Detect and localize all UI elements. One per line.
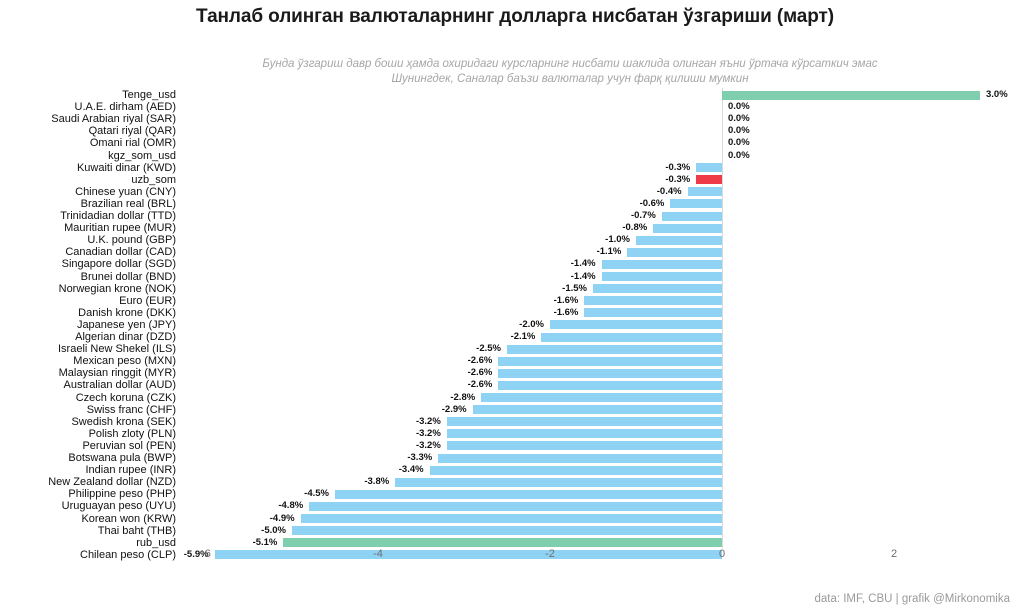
bar-value-label: -3.8% (364, 476, 389, 488)
bar-value-label: -3.2% (416, 416, 441, 428)
category-label: Swedish krona (SEK) (0, 416, 176, 428)
chart-bar (696, 175, 722, 184)
bar-value-label: 3.0% (986, 89, 1008, 101)
bar-value-label: -4.5% (304, 488, 329, 500)
bar-value-label: -2.1% (511, 331, 536, 343)
category-label: Euro (EUR) (0, 295, 176, 307)
bar-value-label: -4.9% (270, 513, 295, 525)
chart-bar-row: uzb_som-0.3% (0, 174, 1024, 186)
bar-value-label: -1.1% (597, 246, 622, 258)
chart-bar-row: Thai baht (THB)-5.0% (0, 525, 1024, 537)
category-label: U.K. pound (GBP) (0, 234, 176, 246)
category-label: Mexican peso (MXN) (0, 355, 176, 367)
chart-bar (584, 296, 722, 305)
bar-value-label: -2.8% (450, 392, 475, 404)
category-label: Brunei dollar (BND) (0, 271, 176, 283)
chart-bar (498, 381, 722, 390)
bar-value-label: -2.6% (468, 367, 493, 379)
chart-bar-row: Mauritian rupee (MUR)-0.8% (0, 222, 1024, 234)
category-label: Chinese yuan (CNY) (0, 186, 176, 198)
chart-bar-row: Canadian dollar (CAD)-1.1% (0, 246, 1024, 258)
chart-subtitle-line-2: Шунингдек, Саналар баъзи валюталар учун … (120, 72, 1020, 87)
chart-bar (550, 320, 722, 329)
chart-bar-row: Singapore dollar (SGD)-1.4% (0, 258, 1024, 270)
chart-bar (636, 236, 722, 245)
chart-title: Танлаб олинган валюталарнинг долларга ни… (150, 4, 880, 29)
category-label: kgz_som_usd (0, 150, 176, 162)
bar-value-label: -2.0% (519, 319, 544, 331)
bar-value-label: -4.8% (278, 500, 303, 512)
chart-bar (688, 187, 722, 196)
bar-value-label: -1.0% (605, 234, 630, 246)
chart-bar-row: Qatari riyal (QAR)0.0% (0, 125, 1024, 137)
chart-subtitle-line-1: Бунда ўзгариш давр боши ҳамда охиридаги … (262, 58, 877, 70)
category-label: Saudi Arabian riyal (SAR) (0, 113, 176, 125)
chart-bar-row: Swedish krona (SEK)-3.2% (0, 416, 1024, 428)
chart-container: Танлаб олинган валюталарнинг долларга ни… (0, 0, 1024, 614)
chart-bar (395, 478, 722, 487)
category-label: U.A.E. dirham (AED) (0, 101, 176, 113)
bar-value-label: -0.3% (665, 174, 690, 186)
chart-bar-row: Czech koruna (CZK)-2.8% (0, 392, 1024, 404)
bar-value-label: -3.2% (416, 440, 441, 452)
chart-bar (301, 514, 722, 523)
chart-bar (498, 369, 722, 378)
chart-bar-row: Swiss franc (CHF)-2.9% (0, 404, 1024, 416)
chart-bar-row: Philippine peso (PHP)-4.5% (0, 488, 1024, 500)
x-axis-tick-label: 2 (891, 548, 897, 560)
category-label: Trinidadian dollar (TTD) (0, 210, 176, 222)
chart-subtitle: Бунда ўзгариш давр боши ҳамда охиридаги … (120, 57, 1020, 87)
bar-value-label: 0.0% (728, 137, 750, 149)
bar-value-label: -5.0% (261, 525, 286, 537)
chart-bar (309, 502, 722, 511)
chart-bar-row: Botswana pula (BWP)-3.3% (0, 452, 1024, 464)
chart-bar-row: Kuwaiti dinar (KWD)-0.3% (0, 162, 1024, 174)
bar-value-label: -1.4% (571, 258, 596, 270)
chart-bar-row: Saudi Arabian riyal (SAR)0.0% (0, 113, 1024, 125)
chart-bar (447, 417, 722, 426)
plot-area: Tenge_usd3.0%U.A.E. dirham (AED)0.0%Saud… (0, 88, 1024, 548)
category-label: Norwegian krone (NOK) (0, 283, 176, 295)
category-label: Korean won (KRW) (0, 513, 176, 525)
bar-value-label: 0.0% (728, 125, 750, 137)
x-axis: -6-4-202 (0, 548, 1024, 570)
bar-value-label: -2.5% (476, 343, 501, 355)
chart-bar-row: Danish krone (DKK)-1.6% (0, 307, 1024, 319)
category-label: Malaysian ringgit (MYR) (0, 367, 176, 379)
chart-bar-row: U.K. pound (GBP)-1.0% (0, 234, 1024, 246)
chart-bar (498, 357, 722, 366)
category-label: Peruvian sol (PEN) (0, 440, 176, 452)
category-label: New Zealand dollar (NZD) (0, 476, 176, 488)
bar-value-label: -3.4% (399, 464, 424, 476)
chart-bar (438, 454, 722, 463)
bar-value-label: -0.3% (665, 162, 690, 174)
chart-bar (593, 284, 722, 293)
chart-bar-row: Indian rupee (INR)-3.4% (0, 464, 1024, 476)
chart-bar-row: Israeli New Shekel (ILS)-2.5% (0, 343, 1024, 355)
category-label: Canadian dollar (CAD) (0, 246, 176, 258)
chart-bar-row: New Zealand dollar (NZD)-3.8% (0, 476, 1024, 488)
chart-bar-row: Australian dollar (AUD)-2.6% (0, 379, 1024, 391)
bar-value-label: -0.4% (657, 186, 682, 198)
bar-value-label: -1.4% (571, 271, 596, 283)
chart-bar (430, 466, 722, 475)
chart-bar (335, 490, 722, 499)
category-label: Mauritian rupee (MUR) (0, 222, 176, 234)
chart-bar (653, 224, 722, 233)
category-label: Czech koruna (CZK) (0, 392, 176, 404)
bar-value-label: -2.6% (468, 355, 493, 367)
chart-bar-row: Uruguayan peso (UYU)-4.8% (0, 500, 1024, 512)
category-label: Indian rupee (INR) (0, 464, 176, 476)
bar-value-label: -0.7% (631, 210, 656, 222)
bar-value-label: 0.0% (728, 150, 750, 162)
chart-bar (670, 199, 722, 208)
bar-value-label: -1.6% (554, 295, 579, 307)
chart-bar-row: Norwegian krone (NOK)-1.5% (0, 283, 1024, 295)
bar-value-label: -0.8% (622, 222, 647, 234)
chart-bar-row: kgz_som_usd0.0% (0, 150, 1024, 162)
category-label: Polish zloty (PLN) (0, 428, 176, 440)
chart-bar (481, 393, 722, 402)
category-label: Thai baht (THB) (0, 525, 176, 537)
chart-bar-row: Euro (EUR)-1.6% (0, 295, 1024, 307)
chart-bar-row: Peruvian sol (PEN)-3.2% (0, 440, 1024, 452)
bar-value-label: -3.2% (416, 428, 441, 440)
category-label: Israeli New Shekel (ILS) (0, 343, 176, 355)
x-axis-tick-label: -4 (373, 548, 383, 560)
bar-value-label: -2.6% (468, 379, 493, 391)
bar-value-label: -1.6% (554, 307, 579, 319)
chart-bar (292, 526, 722, 535)
bar-value-label: -5.1% (253, 537, 278, 549)
chart-bar-row: Algerian dinar (DZD)-2.1% (0, 331, 1024, 343)
chart-bar-row: Mexican peso (MXN)-2.6% (0, 355, 1024, 367)
x-axis-tick-label: 0 (719, 548, 725, 560)
chart-bar-row: Brazilian real (BRL)-0.6% (0, 198, 1024, 210)
chart-bar-row: Japanese yen (JPY)-2.0% (0, 319, 1024, 331)
chart-bar (722, 91, 980, 100)
category-label: uzb_som (0, 174, 176, 186)
bar-value-label: -2.9% (442, 404, 467, 416)
chart-bar (602, 272, 722, 281)
chart-bar-row: Polish zloty (PLN)-3.2% (0, 428, 1024, 440)
bar-value-label: -1.5% (562, 283, 587, 295)
footer-credit: data: IMF, CBU | grafik @Mirkonomika (814, 593, 1010, 605)
chart-bar-row: Trinidadian dollar (TTD)-0.7% (0, 210, 1024, 222)
bar-value-label: 0.0% (728, 101, 750, 113)
chart-bar (602, 260, 722, 269)
chart-bar (473, 405, 722, 414)
category-label: Swiss franc (CHF) (0, 404, 176, 416)
chart-bar-row: Malaysian ringgit (MYR)-2.6% (0, 367, 1024, 379)
chart-bar (447, 429, 722, 438)
chart-bar (584, 308, 722, 317)
chart-bar (507, 345, 722, 354)
category-label: rub_usd (0, 537, 176, 549)
chart-bar-row: U.A.E. dirham (AED)0.0% (0, 101, 1024, 113)
chart-bar-row: Chinese yuan (CNY)-0.4% (0, 186, 1024, 198)
category-label: Danish krone (DKK) (0, 307, 176, 319)
bar-value-label: -3.3% (407, 452, 432, 464)
chart-bar-row: Brunei dollar (BND)-1.4% (0, 271, 1024, 283)
category-label: Botswana pula (BWP) (0, 452, 176, 464)
category-label: Tenge_usd (0, 89, 176, 101)
category-label: Singapore dollar (SGD) (0, 258, 176, 270)
category-label: Australian dollar (AUD) (0, 379, 176, 391)
chart-bar (696, 163, 722, 172)
chart-bar (283, 538, 722, 547)
chart-bar-row: Tenge_usd3.0% (0, 89, 1024, 101)
bar-value-label: 0.0% (728, 113, 750, 125)
category-label: Brazilian real (BRL) (0, 198, 176, 210)
category-label: Omani rial (OMR) (0, 137, 176, 149)
chart-bar-row: Korean won (KRW)-4.9% (0, 513, 1024, 525)
chart-bar (447, 441, 722, 450)
category-label: Uruguayan peso (UYU) (0, 500, 176, 512)
chart-bar (541, 333, 722, 342)
category-label: Philippine peso (PHP) (0, 488, 176, 500)
category-label: Qatari riyal (QAR) (0, 125, 176, 137)
category-label: Kuwaiti dinar (KWD) (0, 162, 176, 174)
chart-bar-row: Omani rial (OMR)0.0% (0, 137, 1024, 149)
x-axis-tick-label: -2 (545, 548, 555, 560)
category-label: Japanese yen (JPY) (0, 319, 176, 331)
bar-value-label: -0.6% (640, 198, 665, 210)
chart-bar-row: rub_usd-5.1% (0, 537, 1024, 549)
x-axis-tick-label: -6 (201, 548, 211, 560)
chart-bar (662, 212, 722, 221)
category-label: Algerian dinar (DZD) (0, 331, 176, 343)
chart-bar (627, 248, 722, 257)
